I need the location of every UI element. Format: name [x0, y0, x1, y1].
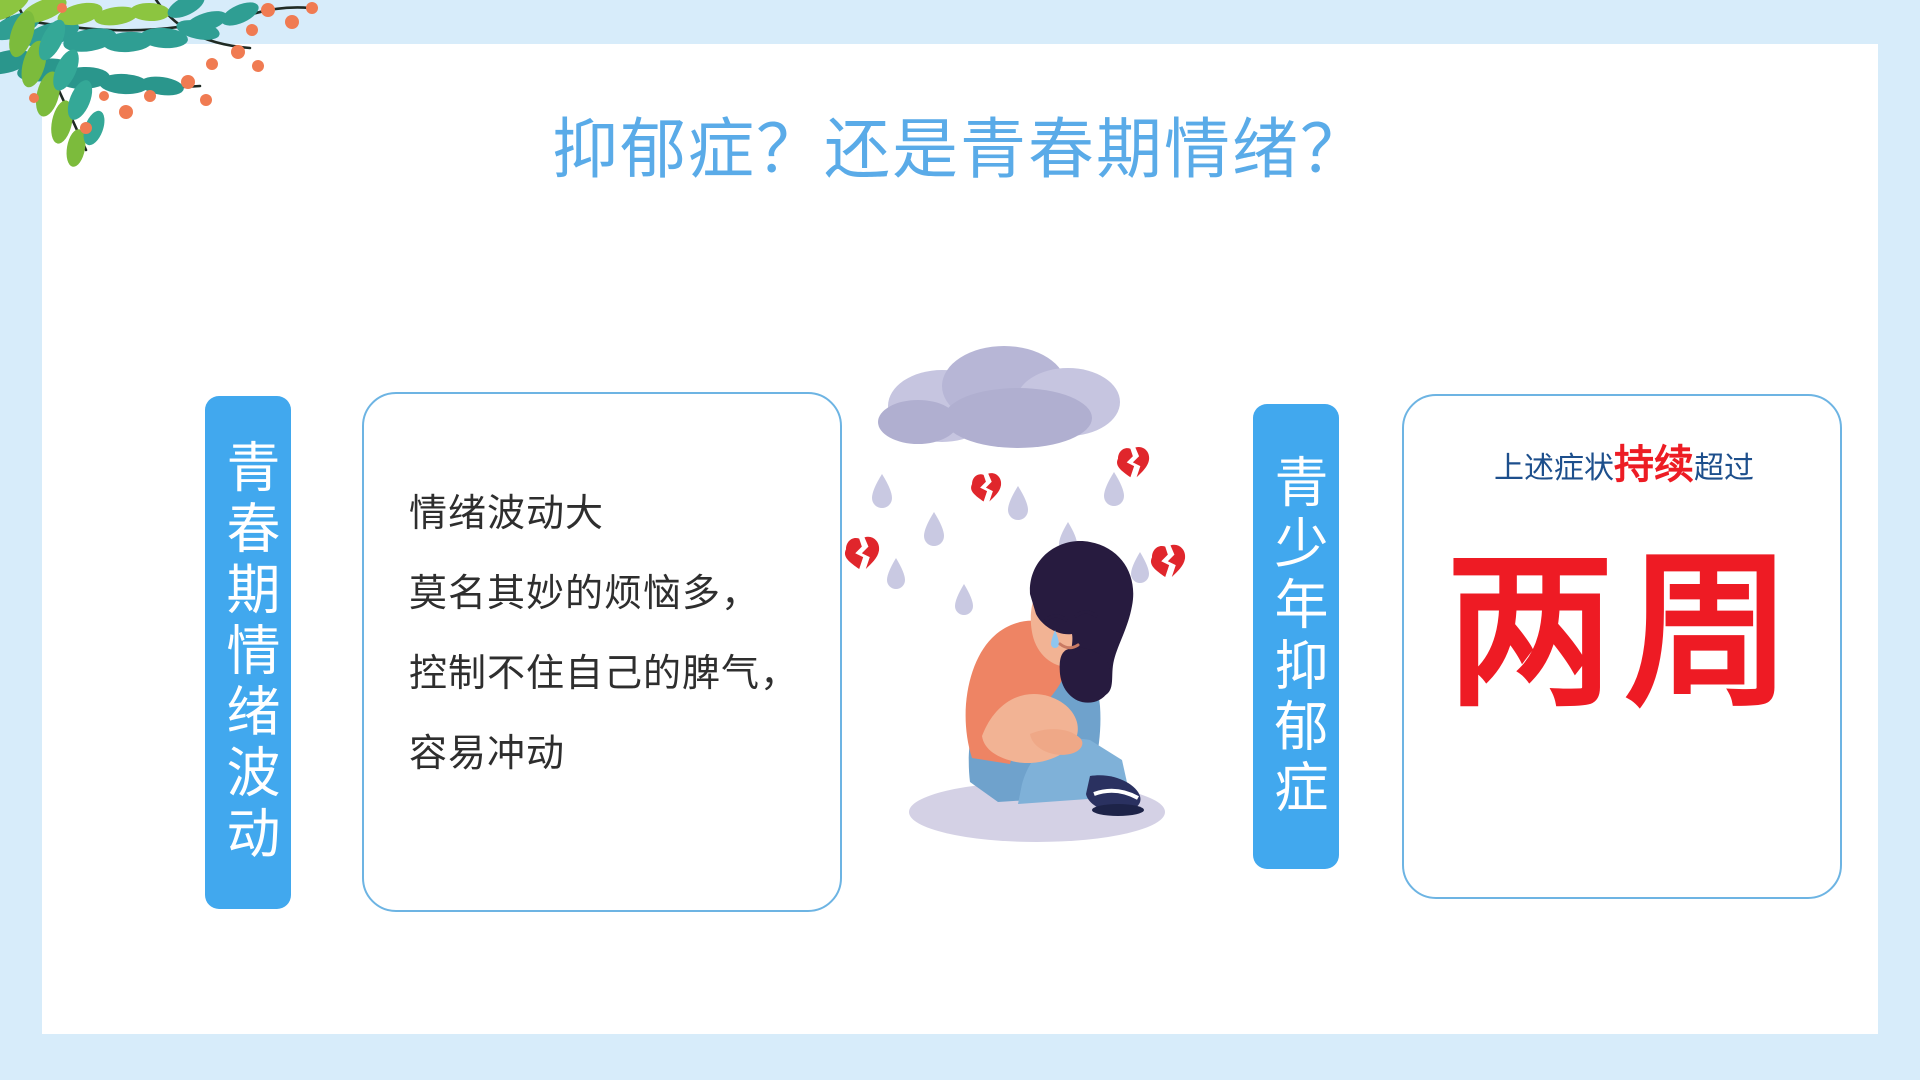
card-adolescent-symptoms: 情绪波动大 莫名其妙的烦恼多， 控制不住自己的脾气， 容易冲动 — [362, 392, 842, 912]
list-item: 控制不住自己的脾气， — [409, 634, 809, 714]
slide-root: 抑郁症？还是青春期情绪？ 青春期情绪波动 情绪波动大 莫名其妙的烦恼多， 控制不… — [0, 0, 1920, 1080]
persistence-suffix: 超过 — [1694, 452, 1754, 485]
persistence-prefix: 上述症状 — [1494, 452, 1614, 485]
shoe-icon — [1086, 775, 1144, 816]
badge-adolescent-depression: 青少年抑郁症 — [1253, 404, 1339, 869]
duration-value: 两周 — [1404, 546, 1844, 722]
content-panel: 抑郁症？还是青春期情绪？ 青春期情绪波动 情绪波动大 莫名其妙的烦恼多， 控制不… — [42, 44, 1878, 1034]
persistence-highlight: 持续 — [1614, 442, 1694, 487]
list-item: 情绪波动大 — [409, 474, 809, 554]
list-item: 容易冲动 — [409, 714, 809, 794]
badge-adolescent-mood-swings: 青春期情绪波动 — [205, 396, 291, 909]
list-item: 莫名其妙的烦恼多， — [409, 554, 809, 634]
sad-girl-rain-cloud-illustration — [822, 344, 1242, 924]
badge-right-label: 青少年抑郁症 — [1269, 454, 1323, 820]
card-duration-criteria: 上述症状持续超过 两周 — [1402, 394, 1842, 899]
badge-left-label: 青春期情绪波动 — [221, 439, 275, 866]
adolescent-symptom-list: 情绪波动大 莫名其妙的烦恼多， 控制不住自己的脾气， 容易冲动 — [409, 474, 809, 794]
persistence-statement: 上述症状持续超过 — [1404, 432, 1844, 490]
girl-figure — [966, 541, 1144, 816]
cloud-icon — [878, 346, 1120, 448]
page-title: 抑郁症？还是青春期情绪？ — [42, 96, 1878, 192]
